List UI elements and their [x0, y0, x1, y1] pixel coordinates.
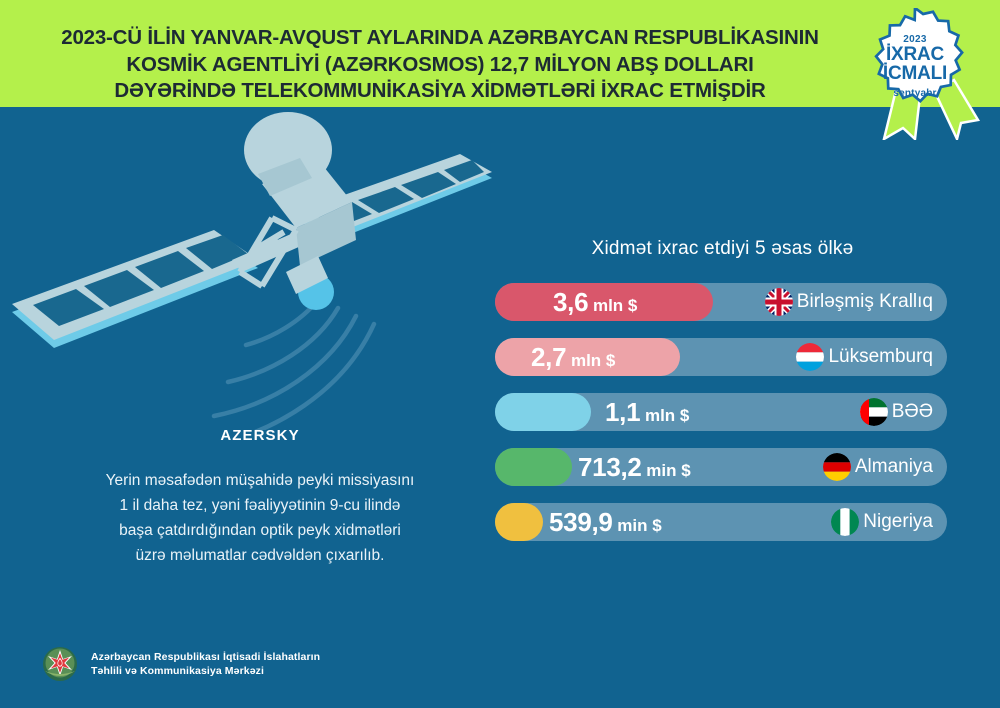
azersky-line-3: başa çatdırdığından optik peyk xidmətlər… [40, 518, 480, 543]
title-line-1: 2023-CÜ İLİN YANVAR-AVQUST AYLARINDA AZƏ… [28, 25, 852, 52]
azersky-heading: AZERSKY [40, 427, 480, 444]
bar-fill [495, 393, 591, 431]
badge-line-2: İCMALI [862, 64, 968, 84]
export-review-badge: 2023 İXRAC İCMALI sentyabr [862, 8, 986, 140]
bar-country-label: Nigeriya [863, 503, 933, 541]
satellite-icon [0, 100, 520, 430]
bar-row: 3,6 mln $Birləşmiş Krallıq [495, 283, 947, 321]
uk-flag-icon [765, 288, 793, 316]
bar-value-unit: mln $ [588, 296, 637, 315]
export-countries-chart: Xidmət ixrac etdiyi 5 əsas ölkə 3,6 mln … [495, 238, 950, 558]
bar-fill [495, 448, 572, 486]
footer-credit: Azərbaycan Respublikası İqtisadi İslahat… [40, 641, 320, 687]
bar-country-label: Birləşmiş Krallıq [797, 283, 933, 321]
page-title: 2023-CÜ İLİN YANVAR-AVQUST AYLARINDA AZƏ… [28, 25, 852, 105]
nigeria-flag-icon [831, 508, 859, 536]
bar-fill [495, 503, 543, 541]
bar-value-number: 1,1 [605, 397, 640, 427]
bar-value-unit: mln $ [566, 351, 615, 370]
bar-row: 2,7 mln $Lüksemburq [495, 338, 947, 376]
header-banner: 2023-CÜ İLİN YANVAR-AVQUST AYLARINDA AZƏ… [0, 0, 1000, 107]
germany-flag-icon [823, 453, 851, 481]
badge-line-1: İXRAC [862, 45, 968, 65]
bar-value-unit: mln $ [640, 406, 689, 425]
bar-value-label: 539,9 min $ [549, 503, 662, 541]
luxembourg-flag-icon [796, 343, 824, 371]
bar-value-label: 1,1 mln $ [605, 393, 689, 431]
bar-row: 539,9 min $Nigeriya [495, 503, 947, 541]
azerbaijan-state-emblem-icon [40, 644, 80, 684]
azersky-line-4: üzrə məlumatlar cədvəldən çıxarılıb. [40, 543, 480, 568]
azersky-line-1: Yerin məsafədən müşahidə peyki missiyası… [40, 468, 480, 493]
bar-row: 713,2 min $Almaniya [495, 448, 947, 486]
bar-value-label: 2,7 mln $ [531, 338, 615, 376]
bar-value-unit: min $ [642, 461, 691, 480]
bar-row: 1,1 mln $BƏƏ [495, 393, 947, 431]
bar-value-number: 2,7 [531, 342, 566, 372]
bar-value-unit: min $ [613, 516, 662, 535]
title-line-3: DƏYƏRİNDƏ TELEKOMMUNİKASİYA XİDMƏTLƏRİ İ… [28, 78, 852, 105]
footer-organization-name: Azərbaycan Respublikası İqtisadi İslahat… [91, 650, 320, 679]
solar-panel-left [12, 230, 258, 348]
azersky-line-2: 1 il daha tez, yəni fəaliyyətinin 9-cu i… [40, 493, 480, 518]
infographic-poster: 2023-CÜ İLİN YANVAR-AVQUST AYLARINDA AZƏ… [0, 0, 1000, 708]
bar-country-label: BƏƏ [892, 393, 933, 431]
azersky-description: Yerin məsafədən müşahidə peyki missiyası… [40, 468, 480, 568]
chart-title: Xidmət ixrac etdiyi 5 əsas ölkə [495, 238, 950, 260]
bar-value-label: 3,6 mln $ [553, 283, 637, 321]
footer-line-1: Azərbaycan Respublikası İqtisadi İslahat… [91, 650, 320, 665]
bar-value-number: 539,9 [549, 507, 613, 537]
uae-flag-icon [860, 398, 888, 426]
footer-line-2: Təhlili və Kommunikasiya Mərkəzi [91, 664, 320, 679]
satellite-illustration [0, 100, 520, 430]
bar-value-number: 713,2 [578, 452, 642, 482]
title-line-2: KOSMİK AGENTLİYİ (AZƏRKOSMOS) 12,7 MİLYO… [28, 52, 852, 79]
bar-value-number: 3,6 [553, 287, 588, 317]
bar-country-label: Lüksemburq [828, 338, 933, 376]
bar-list: 3,6 mln $Birləşmiş Krallıq 2,7 mln $Lüks… [495, 283, 950, 558]
bar-value-label: 713,2 min $ [578, 448, 691, 486]
badge-month: sentyabr [862, 88, 968, 99]
bar-country-label: Almaniya [855, 448, 933, 486]
